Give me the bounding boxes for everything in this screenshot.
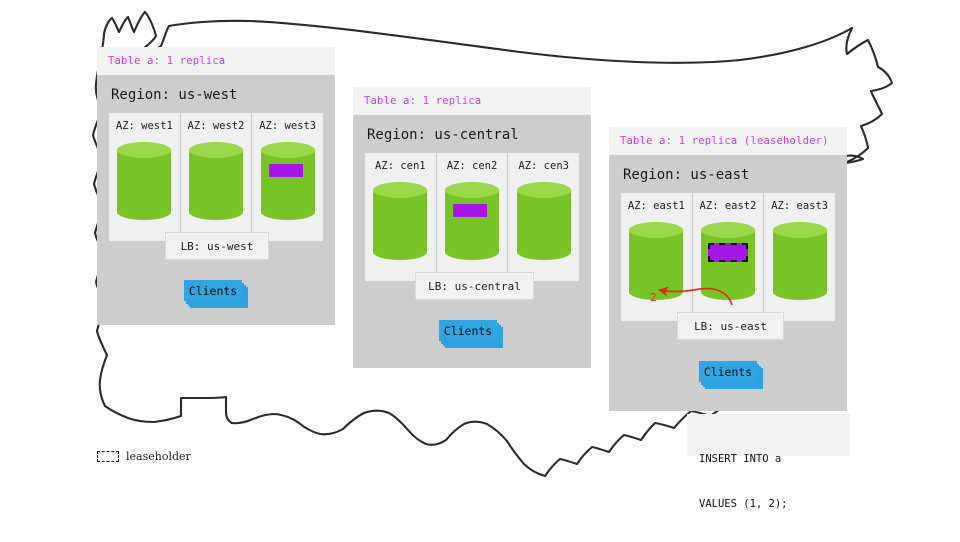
az-cen3[interactable]: AZ: cen3 bbox=[507, 153, 579, 281]
sql-statement-box: INSERT INTO a VALUES (1, 2); bbox=[687, 414, 850, 456]
arrow-step-label: 2 bbox=[650, 291, 657, 304]
cylinder-top bbox=[373, 182, 427, 198]
cylinder-top bbox=[701, 222, 755, 238]
lb-label: LB: us-east bbox=[694, 320, 767, 333]
az-cen1[interactable]: AZ: cen1 bbox=[365, 153, 436, 281]
replica-marker-leaseholder-east2[interactable] bbox=[708, 243, 748, 262]
load-balancer-us-west[interactable]: LB: us-west bbox=[165, 232, 269, 260]
node-cylinder-cen3[interactable] bbox=[517, 182, 571, 260]
region-title-us-west: Region: us-west bbox=[97, 75, 335, 113]
cylinder-body bbox=[445, 190, 499, 252]
cylinder-body bbox=[629, 230, 683, 292]
cylinder-body bbox=[261, 150, 315, 212]
cylinder-top bbox=[517, 182, 571, 198]
region-panel-us-east[interactable]: Table a: 1 replica (leaseholder) Region:… bbox=[609, 127, 847, 411]
load-balancer-us-east[interactable]: LB: us-east bbox=[677, 312, 784, 340]
diagram-canvas: Table a: 1 replica Region: us-west AZ: w… bbox=[0, 0, 960, 540]
clients-stack-us-east[interactable]: Clients bbox=[699, 361, 769, 391]
replica-marker-cen2[interactable] bbox=[453, 204, 487, 217]
sql-line-2: VALUES (1, 2); bbox=[699, 497, 840, 512]
cylinder-top bbox=[629, 222, 683, 238]
lb-label: LB: us-west bbox=[181, 240, 254, 253]
clients-button[interactable]: Clients bbox=[439, 320, 497, 341]
cylinder-top bbox=[261, 142, 315, 158]
az-cen2[interactable]: AZ: cen2 bbox=[436, 153, 508, 281]
lb-label: LB: us-central bbox=[428, 280, 521, 293]
leaseholder-swatch-icon bbox=[97, 451, 119, 462]
az-label: AZ: cen1 bbox=[365, 160, 436, 172]
az-label: AZ: west3 bbox=[252, 120, 323, 132]
region-title-us-east: Region: us-east bbox=[609, 155, 847, 193]
az-label: AZ: east2 bbox=[693, 200, 764, 212]
az-east2[interactable]: AZ: east2 bbox=[692, 193, 764, 321]
az-label: AZ: cen3 bbox=[508, 160, 579, 172]
load-balancer-us-central[interactable]: LB: us-central bbox=[415, 272, 534, 300]
region-replica-label: Table a: 1 replica bbox=[364, 95, 481, 107]
cylinder-top bbox=[117, 142, 171, 158]
clients-button[interactable]: Clients bbox=[184, 280, 242, 301]
region-replica-label: Table a: 1 replica bbox=[108, 55, 225, 67]
region-replica-label: Table a: 1 replica (leaseholder) bbox=[620, 135, 829, 147]
node-cylinder-east2[interactable] bbox=[701, 222, 755, 300]
region-header-us-west: Table a: 1 replica bbox=[97, 47, 335, 75]
region-panel-us-west[interactable]: Table a: 1 replica Region: us-west AZ: w… bbox=[97, 47, 335, 325]
cylinder-body bbox=[773, 230, 827, 292]
legend-label: leaseholder bbox=[126, 450, 191, 463]
clients-label: Clients bbox=[189, 284, 237, 298]
clients-label: Clients bbox=[444, 324, 492, 338]
legend: leaseholder bbox=[97, 450, 191, 463]
cylinder-body bbox=[117, 150, 171, 212]
node-cylinder-west3[interactable] bbox=[261, 142, 315, 220]
az-label: AZ: east3 bbox=[764, 200, 835, 212]
az-west3[interactable]: AZ: west3 bbox=[251, 113, 323, 241]
az-west1[interactable]: AZ: west1 bbox=[109, 113, 180, 241]
node-cylinder-cen1[interactable] bbox=[373, 182, 427, 260]
region-title-us-central: Region: us-central bbox=[353, 115, 591, 153]
az-row-us-central: AZ: cen1 AZ: cen2 AZ: cen3 bbox=[365, 153, 579, 281]
az-label: AZ: east1 bbox=[621, 200, 692, 212]
region-panel-us-central[interactable]: Table a: 1 replica Region: us-central AZ… bbox=[353, 87, 591, 368]
clients-stack-us-west[interactable]: Clients bbox=[184, 280, 254, 310]
clients-stack-us-central[interactable]: Clients bbox=[439, 320, 509, 350]
az-label: AZ: west1 bbox=[109, 120, 180, 132]
az-east3[interactable]: AZ: east3 bbox=[763, 193, 835, 321]
az-label: AZ: cen2 bbox=[437, 160, 508, 172]
node-cylinder-west2[interactable] bbox=[189, 142, 243, 220]
cylinder-body bbox=[517, 190, 571, 252]
node-cylinder-cen2[interactable] bbox=[445, 182, 499, 260]
az-row-us-west: AZ: west1 AZ: west2 AZ: west3 bbox=[109, 113, 323, 241]
node-cylinder-east3[interactable] bbox=[773, 222, 827, 300]
az-label: AZ: west2 bbox=[181, 120, 252, 132]
az-west2[interactable]: AZ: west2 bbox=[180, 113, 252, 241]
cylinder-body bbox=[189, 150, 243, 212]
node-cylinder-west1[interactable] bbox=[117, 142, 171, 220]
sql-line-1: INSERT INTO a bbox=[699, 452, 840, 467]
clients-button[interactable]: Clients bbox=[699, 361, 757, 382]
node-cylinder-east1[interactable] bbox=[629, 222, 683, 300]
cylinder-body bbox=[373, 190, 427, 252]
region-header-us-east: Table a: 1 replica (leaseholder) bbox=[609, 127, 847, 155]
clients-label: Clients bbox=[704, 365, 752, 379]
region-header-us-central: Table a: 1 replica bbox=[353, 87, 591, 115]
cylinder-top bbox=[189, 142, 243, 158]
cylinder-top bbox=[445, 182, 499, 198]
replica-marker-west3[interactable] bbox=[269, 164, 303, 177]
cylinder-top bbox=[773, 222, 827, 238]
